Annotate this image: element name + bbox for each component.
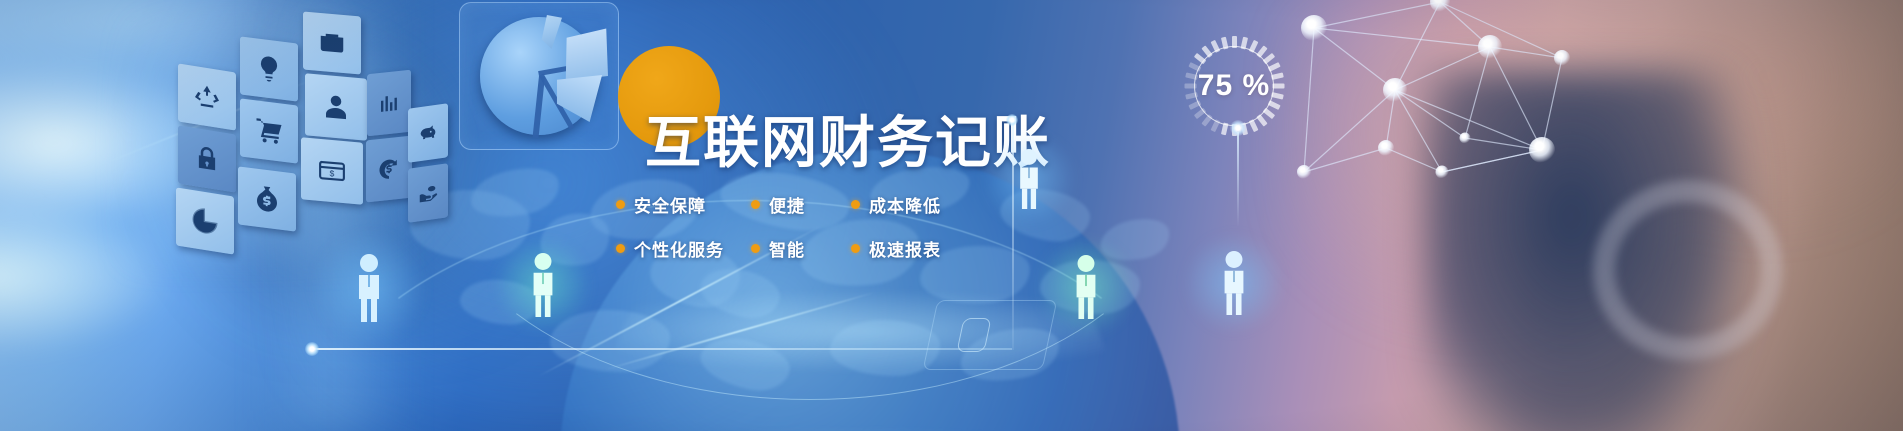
network-node bbox=[1478, 35, 1502, 59]
person-figure-5 bbox=[1218, 248, 1250, 318]
bullet-dot-icon bbox=[616, 200, 625, 209]
cube-lock bbox=[178, 125, 236, 192]
pie-chart-icon bbox=[190, 204, 220, 239]
feature-label: 便捷 bbox=[769, 192, 805, 217]
cube-hand-coin bbox=[408, 163, 448, 223]
recycle-icon bbox=[192, 80, 222, 115]
money-bag-icon bbox=[252, 182, 282, 216]
cube-person bbox=[305, 73, 367, 140]
cube-piggy-bank bbox=[408, 103, 448, 163]
feature-item-5: 智能 bbox=[751, 236, 851, 261]
cube-recycle bbox=[178, 63, 236, 130]
ui-bracket-bottom bbox=[923, 300, 1058, 370]
network-node bbox=[1554, 50, 1570, 66]
bullet-dot-icon bbox=[851, 244, 860, 253]
feature-item-3: 成本降低 bbox=[851, 192, 996, 217]
pie-chart-panel bbox=[459, 2, 619, 150]
network-node bbox=[1529, 137, 1555, 163]
network-node bbox=[1460, 133, 1471, 144]
bullet-dot-icon bbox=[751, 244, 760, 253]
network-node bbox=[1383, 78, 1407, 102]
cube-lightbulb bbox=[240, 36, 298, 101]
network-node bbox=[1436, 166, 1449, 179]
hand-coin-icon bbox=[417, 180, 439, 205]
feature-label: 智能 bbox=[769, 236, 805, 261]
network-graph bbox=[1290, 0, 1620, 210]
cube-shopping-cart bbox=[240, 98, 298, 163]
network-node bbox=[1297, 165, 1311, 179]
feature-item-1: 安全保障 bbox=[616, 192, 751, 217]
bar-chart-icon bbox=[377, 87, 401, 120]
gauge-stem-line bbox=[1237, 132, 1239, 227]
bullet-dot-icon bbox=[616, 244, 625, 253]
piggy-bank-icon bbox=[417, 120, 439, 145]
feature-item-2: 便捷 bbox=[751, 192, 851, 217]
background-cup-handle bbox=[1593, 180, 1783, 360]
cube-money-bag bbox=[238, 166, 296, 231]
person-figure-2 bbox=[527, 250, 559, 320]
network-node bbox=[1378, 140, 1394, 156]
feature-label: 个性化服务 bbox=[634, 236, 724, 261]
person-figure-3 bbox=[1014, 146, 1044, 212]
person-figure-4 bbox=[1070, 252, 1102, 322]
feature-label: 极速报表 bbox=[869, 236, 941, 261]
feature-item-4: 个性化服务 bbox=[616, 236, 751, 261]
baseline-node-left bbox=[305, 342, 319, 356]
feature-item-6: 极速报表 bbox=[851, 236, 996, 261]
person-figure-1 bbox=[352, 252, 386, 324]
icon-cube-stack: $ bbox=[168, 10, 438, 240]
credit-card-icon: $ bbox=[317, 155, 347, 188]
bullet-dot-icon bbox=[851, 200, 860, 209]
baseline-left bbox=[312, 348, 1012, 350]
network-edges bbox=[1290, 0, 1620, 210]
svg-text:$: $ bbox=[330, 168, 335, 178]
finance-banner: $ 互联网财务记账 bbox=[0, 0, 1903, 431]
lock-icon bbox=[192, 142, 222, 177]
person-icon bbox=[321, 91, 351, 124]
feature-list: 安全保障 便捷 成本降低 个性化服务 智能 极速报表 bbox=[616, 182, 996, 270]
cube-briefcase bbox=[303, 11, 361, 74]
briefcase-icon bbox=[317, 27, 347, 60]
bullet-dot-icon bbox=[751, 200, 760, 209]
refresh-dollar-icon bbox=[376, 155, 402, 184]
cube-pie-chart bbox=[176, 187, 234, 254]
shopping-cart-icon bbox=[254, 114, 284, 148]
lightbulb-icon bbox=[254, 52, 284, 86]
feature-label: 成本降低 bbox=[869, 192, 941, 217]
pie-gap-top bbox=[533, 76, 545, 138]
cube-bar-chart bbox=[367, 70, 411, 137]
cube-credit-card: $ bbox=[301, 137, 363, 204]
vertical-line-node bbox=[1006, 114, 1018, 126]
cube-refresh-dollar bbox=[366, 136, 412, 203]
feature-label: 安全保障 bbox=[634, 192, 706, 217]
network-node bbox=[1301, 15, 1327, 41]
